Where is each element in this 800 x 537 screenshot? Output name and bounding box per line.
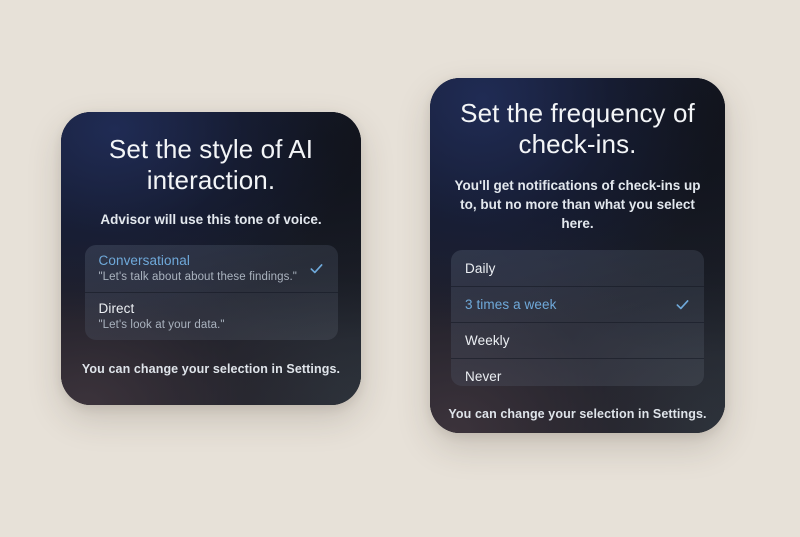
check-icon <box>309 261 324 276</box>
option-weekly[interactable]: Weekly <box>451 322 704 358</box>
option-list-frequency: Daily 3 times a week Weekly Never <box>451 250 704 386</box>
option-never[interactable]: Never <box>451 358 704 386</box>
option-texts: Conversational "Let's talk about about t… <box>99 253 298 283</box>
option-daily[interactable]: Daily <box>451 250 704 286</box>
option-label: Weekly <box>465 333 510 348</box>
page-title: Set the frequency of check-ins. <box>451 98 705 160</box>
card-checkin-frequency: Set the frequency of check-ins. You'll g… <box>430 78 725 433</box>
card-ai-interaction-style: Set the style of AI interaction. Advisor… <box>61 112 361 405</box>
option-description: "Let's talk about about these findings." <box>99 271 298 283</box>
option-label: 3 times a week <box>465 297 556 312</box>
card-subtitle: Advisor will use this tone of voice. <box>76 210 346 229</box>
option-3-times-a-week[interactable]: 3 times a week <box>451 286 704 322</box>
option-label: Conversational <box>99 253 298 268</box>
option-description: "Let's look at your data." <box>99 319 225 331</box>
card-footer-note: You can change your selection in Setting… <box>76 362 346 376</box>
screen: Set the style of AI interaction. Advisor… <box>0 0 800 537</box>
card-footer-note: You can change your selection in Setting… <box>445 407 711 421</box>
option-direct[interactable]: Direct "Let's look at your data." <box>85 292 338 340</box>
option-label: Never <box>465 369 502 384</box>
option-conversational[interactable]: Conversational "Let's talk about about t… <box>85 245 338 292</box>
check-icon <box>675 297 690 312</box>
page-title: Set the style of AI interaction. <box>82 134 340 196</box>
option-texts: Direct "Let's look at your data." <box>99 301 225 331</box>
option-label: Direct <box>99 301 225 316</box>
card-subtitle: You'll get notifications of check-ins up… <box>445 176 711 233</box>
option-label: Daily <box>465 261 496 276</box>
option-list-style: Conversational "Let's talk about about t… <box>85 245 338 340</box>
